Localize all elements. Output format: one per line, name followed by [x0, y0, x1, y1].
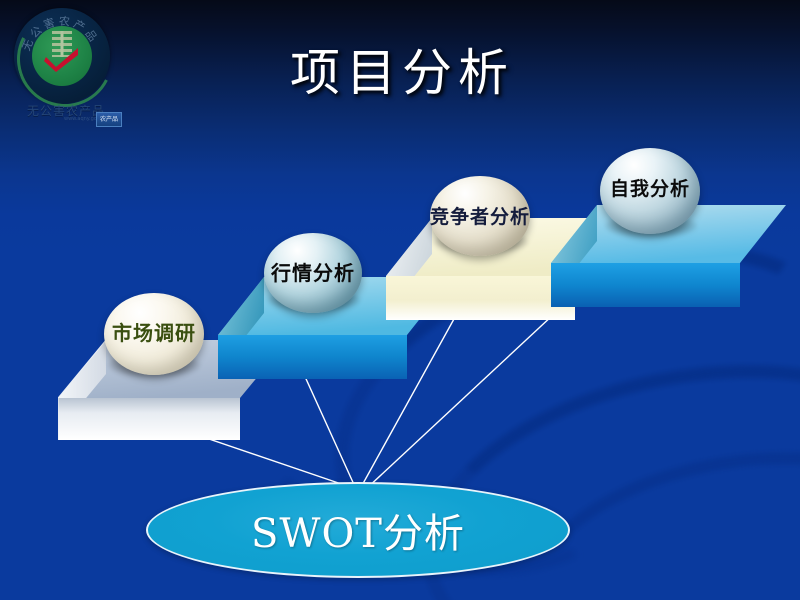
step-sphere-2[interactable]: 行情分析	[264, 233, 362, 313]
step-sphere-label-3: 竞争者分析	[413, 202, 547, 229]
step-sphere-label-4: 自我分析	[600, 174, 700, 201]
step-sphere-label-2: 行情分析	[264, 257, 362, 286]
swot-analysis-node[interactable]: SWOT分析	[146, 482, 570, 578]
swot-analysis-label: SWOT分析	[148, 484, 568, 576]
step-sphere-3[interactable]: 竞争者分析	[430, 176, 530, 256]
checkmark-icon	[42, 46, 82, 72]
organization-logo: 无公害农产品 无公害农产品 www.aqny.gov.cn 农产品	[8, 6, 120, 124]
slide-canvas: 无公害农产品 无公害农产品 www.aqny.gov.cn 农产品 项目分析	[0, 0, 800, 600]
logo-badge: 农产品	[96, 112, 122, 127]
step-sphere-4[interactable]: 自我分析	[600, 148, 700, 234]
page-title: 项目分析	[290, 33, 514, 105]
step-sphere-1[interactable]: 市场调研	[104, 293, 204, 375]
step-sphere-label-1: 市场调研	[104, 317, 204, 346]
